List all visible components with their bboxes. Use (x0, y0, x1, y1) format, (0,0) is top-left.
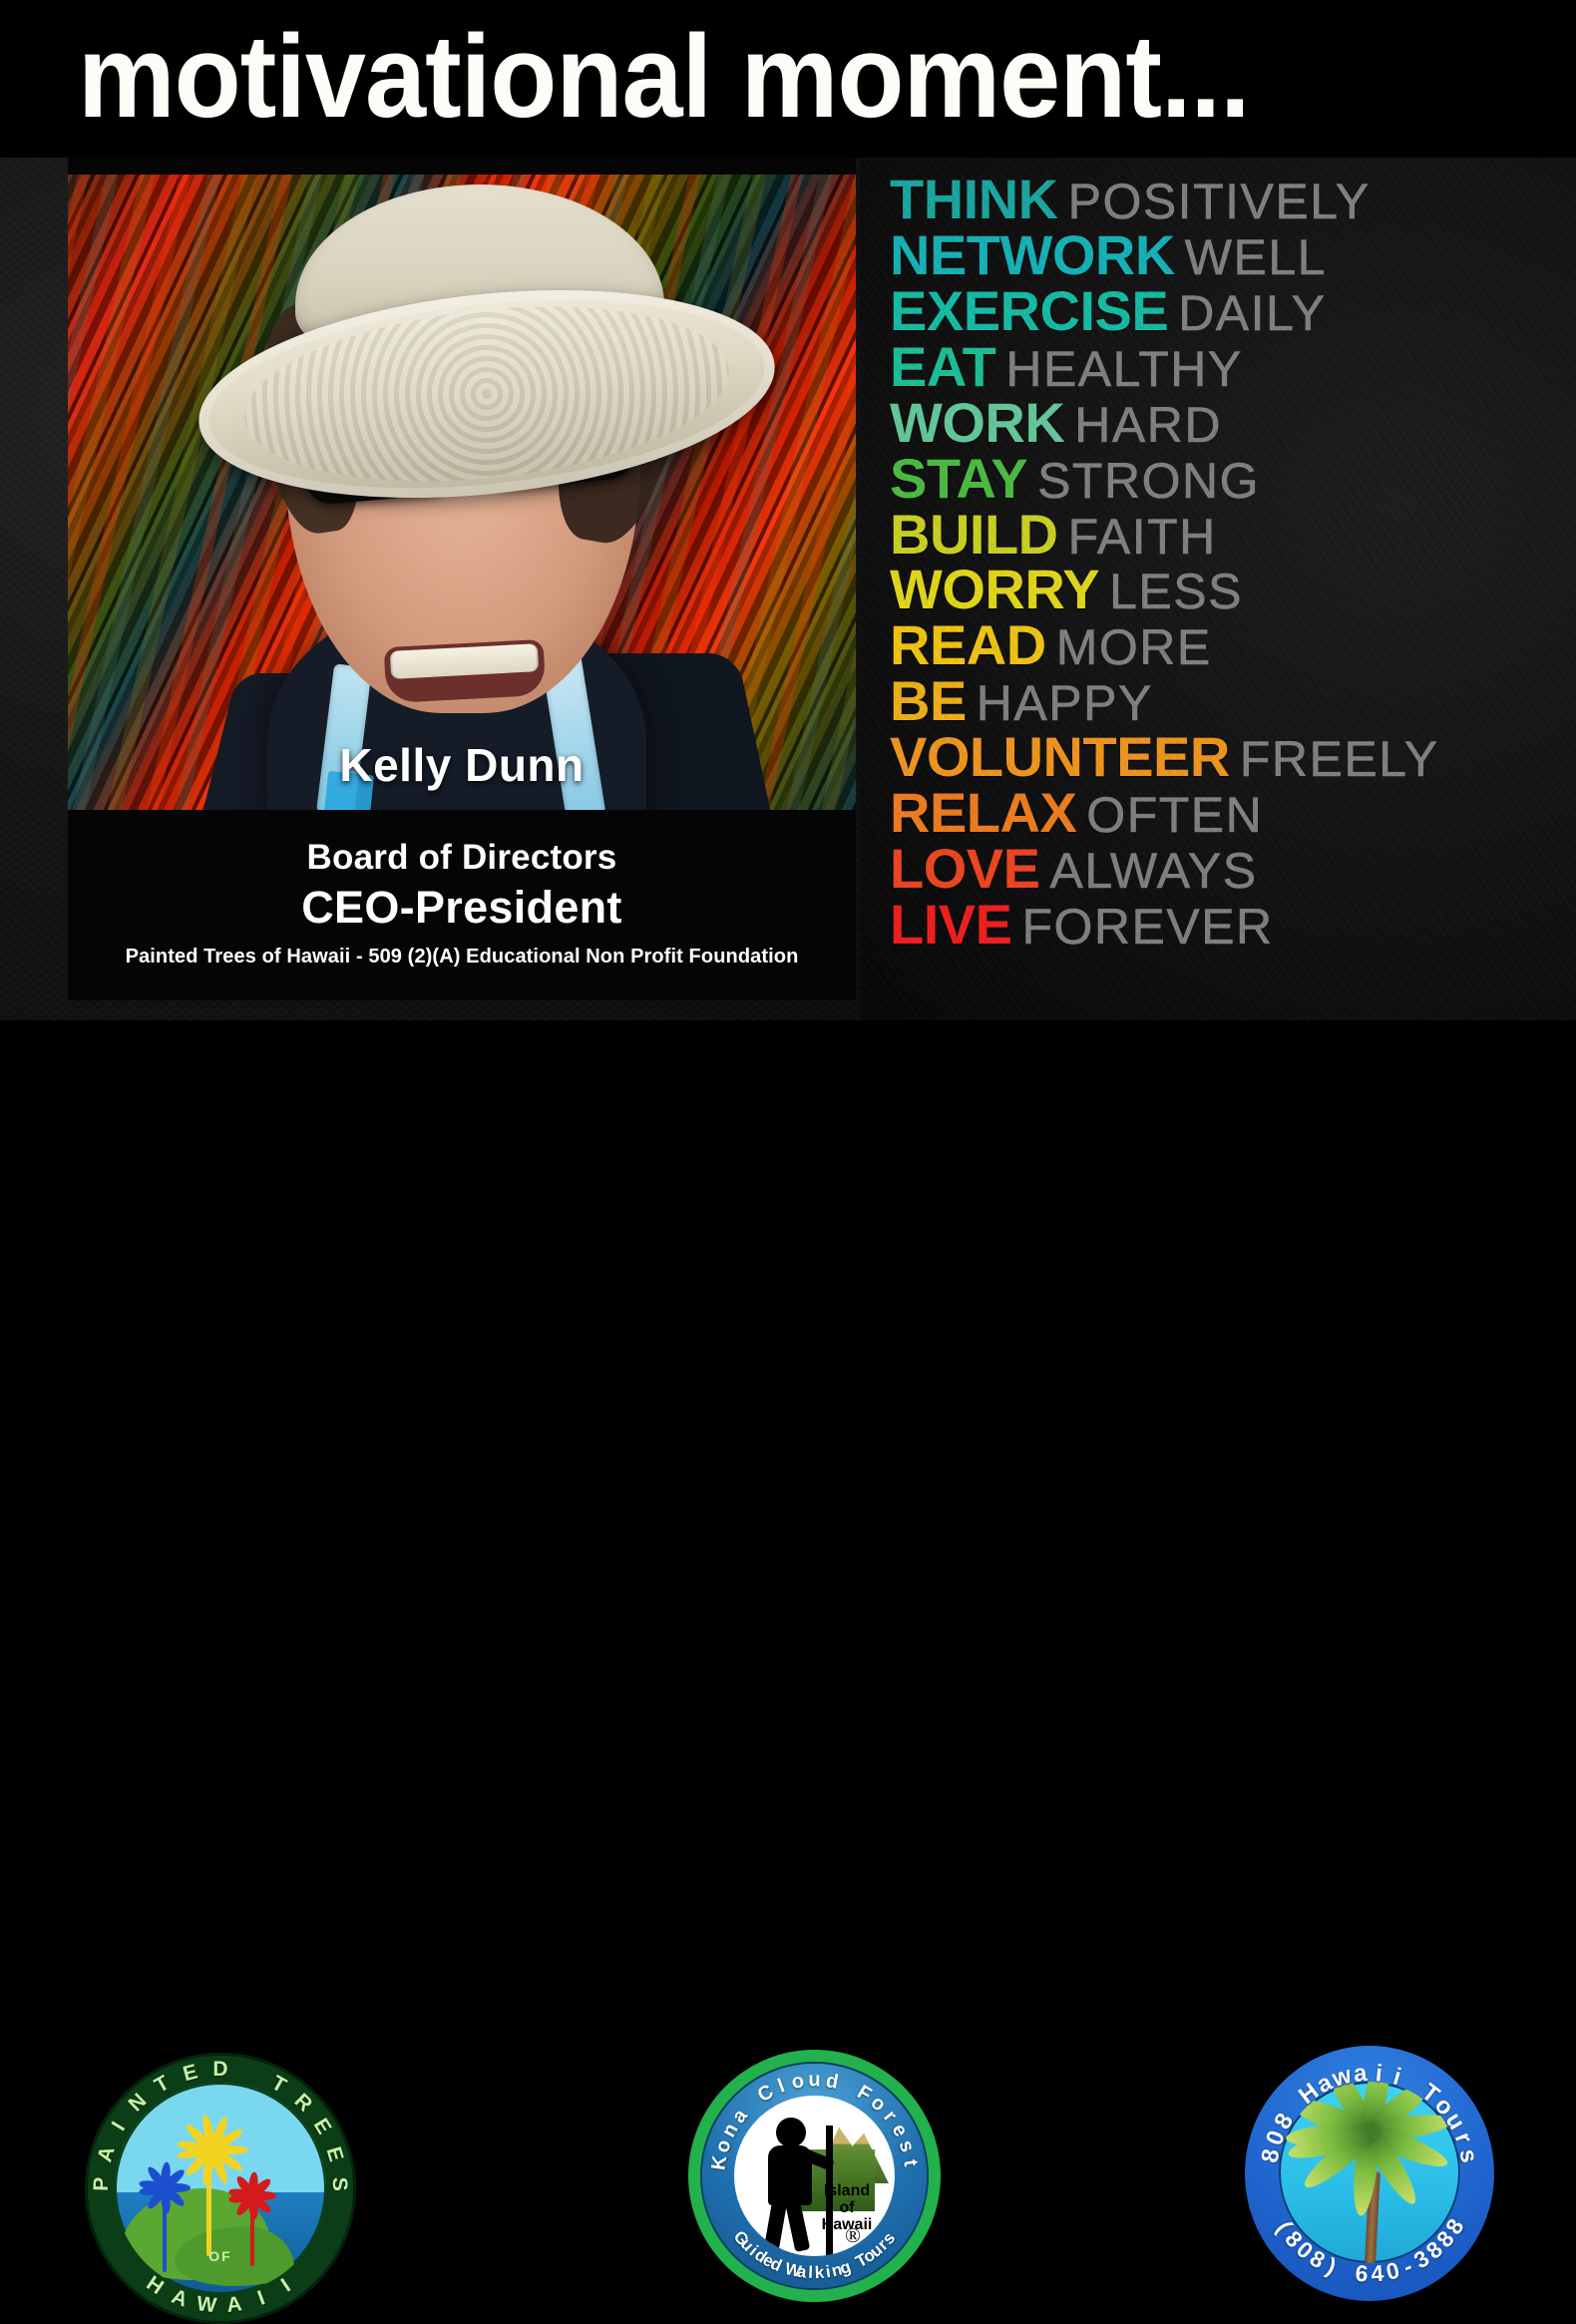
logo-strip: PAINTED TREES HAWAII OF Island of Hawaii… (0, 1020, 1576, 1347)
motivation-row: THINKPOSITIVELY (890, 170, 1576, 229)
motivation-action: WORK (890, 393, 1064, 453)
motivation-row: WORKHARD (890, 393, 1576, 453)
motivation-qualifier: LESS (1109, 566, 1243, 619)
logo-kona-cloud-forest[interactable]: Island of Hawaii ® Kona Cloud Forest Gui… (688, 2050, 941, 2302)
profile-title: CEO-President (68, 882, 856, 934)
logo-painted-trees-of-hawaii[interactable]: PAINTED TREES HAWAII OF (85, 2053, 356, 2324)
motivation-qualifier: FAITH (1068, 511, 1217, 565)
header-bar: motivational moment... (0, 0, 1576, 150)
motivation-row: VOLUNTEERFREELY (890, 727, 1576, 787)
motivation-qualifier: DAILY (1178, 287, 1326, 341)
profile-photo: Kelly Dunn (68, 175, 856, 810)
profile-name: Kelly Dunn (68, 738, 856, 792)
motivation-qualifier: WELL (1185, 231, 1327, 285)
motivation-action: LIVE (890, 895, 1011, 955)
painted-trees-mid-text: OF (85, 2248, 356, 2264)
motivation-action: NETWORK (890, 225, 1175, 285)
motivation-row: RELAXOFTEN (890, 783, 1576, 843)
motivation-qualifier: HEALTHY (1005, 343, 1242, 397)
motivation-row: BUILDFAITH (890, 505, 1576, 565)
motivation-row: STAYSTRONG (890, 449, 1576, 509)
profile-role: Board of Directors (68, 838, 856, 878)
motivation-qualifier: OFTEN (1086, 789, 1263, 843)
motivation-row: WORRYLESS (890, 560, 1576, 619)
teeth (390, 643, 539, 679)
motivation-action: STAY (890, 449, 1027, 509)
motivation-row: READMORE (890, 615, 1576, 675)
motivation-qualifier: POSITIVELY (1068, 176, 1371, 229)
kona-bottom-text: Guided Walking Tours (688, 2050, 941, 2302)
portrait-figure (68, 175, 856, 810)
motivation-row: EATHEALTHY (890, 337, 1576, 397)
motivation-qualifier: FOREVER (1021, 901, 1273, 955)
motivation-action: THINK (890, 170, 1058, 229)
motivation-qualifier: MORE (1056, 621, 1212, 675)
motivation-action: READ (890, 615, 1046, 675)
logo-808-hawaii-tours[interactable]: 808 Hawaii Tours (808) 640-3888 (1245, 2046, 1494, 2301)
profile-caption: Board of Directors CEO-President Painted… (68, 816, 856, 1000)
motivation-qualifier: STRONG (1037, 455, 1260, 509)
motivation-row: EXERCISEDAILY (890, 281, 1576, 341)
profile-org: Painted Trees of Hawaii - 509 (2)(A) Edu… (68, 946, 856, 968)
motivation-qualifier: HAPPY (977, 677, 1153, 731)
motivation-action: WORRY (890, 560, 1099, 619)
motivation-action: BUILD (890, 505, 1058, 565)
motivation-qualifier: FREELY (1240, 733, 1439, 787)
motivation-action: BE (890, 671, 967, 731)
profile-card: Kelly Dunn Board of Directors CEO-Presid… (68, 158, 856, 1000)
motivation-row: NETWORKWELL (890, 225, 1576, 285)
motivation-action: EXERCISE (890, 281, 1168, 341)
nose (419, 534, 515, 643)
motivation-list: THINKPOSITIVELYNETWORKWELLEXERCISEDAILYE… (890, 170, 1576, 951)
hawaii-tours-phone-text: (808) 640-3888 (1245, 2046, 1494, 2301)
motivation-panel: THINKPOSITIVELYNETWORKWELLEXERCISEDAILYE… (860, 158, 1576, 1020)
motivation-row: LIVEFOREVER (890, 895, 1576, 955)
motivation-qualifier: HARD (1074, 399, 1222, 453)
motivation-row: LOVEALWAYS (890, 839, 1576, 899)
motivation-action: RELAX (890, 783, 1076, 843)
motivation-action: LOVE (890, 839, 1039, 899)
page-title: motivational moment... (78, 18, 1250, 136)
motivation-action: EAT (890, 337, 995, 397)
motivation-qualifier: ALWAYS (1049, 845, 1257, 899)
motivation-row: BEHAPPY (890, 671, 1576, 731)
mouth (384, 639, 547, 703)
motivation-action: VOLUNTEER (890, 727, 1230, 787)
